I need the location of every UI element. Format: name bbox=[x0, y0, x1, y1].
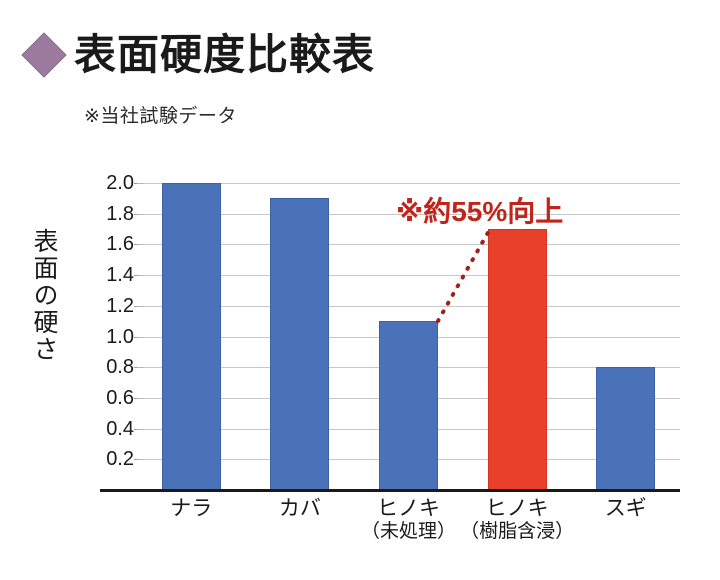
y-tick-label: 0.2 bbox=[94, 449, 134, 469]
bar bbox=[596, 367, 655, 490]
category-sublabel: （樹脂含浸） bbox=[437, 521, 597, 542]
y-tick-label: 2.0 bbox=[94, 173, 134, 193]
y-tick-label: 0.8 bbox=[94, 357, 134, 377]
y-tick-label: 1.6 bbox=[94, 234, 134, 254]
y-tick-label: 0.4 bbox=[94, 419, 134, 439]
bar bbox=[162, 183, 221, 490]
y-tick-label: 1.0 bbox=[94, 327, 134, 347]
bar-chart: 表面の硬さ 2.01.81.61.41.21.00.80.60.40.2 ナラカ… bbox=[0, 0, 720, 580]
y-tick-label: 1.2 bbox=[94, 296, 134, 316]
bar bbox=[270, 198, 329, 490]
bar bbox=[488, 229, 547, 490]
category-name: ヒノキ bbox=[377, 497, 440, 520]
y-tick-label: 1.8 bbox=[94, 204, 134, 224]
y-axis-title: 表面の硬さ bbox=[24, 228, 58, 363]
y-axis-tick-labels: 2.01.81.61.41.21.00.80.60.40.2 bbox=[88, 160, 134, 490]
category-name: スギ bbox=[605, 497, 647, 520]
category-name: ナラ bbox=[170, 497, 212, 520]
category-name: カバ bbox=[279, 497, 321, 520]
x-axis-line bbox=[100, 489, 680, 492]
x-category-label: スギ bbox=[546, 497, 706, 521]
category-name: ヒノキ bbox=[486, 497, 549, 520]
chart-page: 表面硬度比較表 ※当社試験データ 表面の硬さ 2.01.81.61.41.21.… bbox=[0, 0, 720, 580]
bar bbox=[379, 321, 438, 490]
y-tick-label: 0.6 bbox=[94, 388, 134, 408]
annotation-label: ※約55%向上 bbox=[396, 190, 563, 230]
y-tick-label: 1.4 bbox=[94, 265, 134, 285]
